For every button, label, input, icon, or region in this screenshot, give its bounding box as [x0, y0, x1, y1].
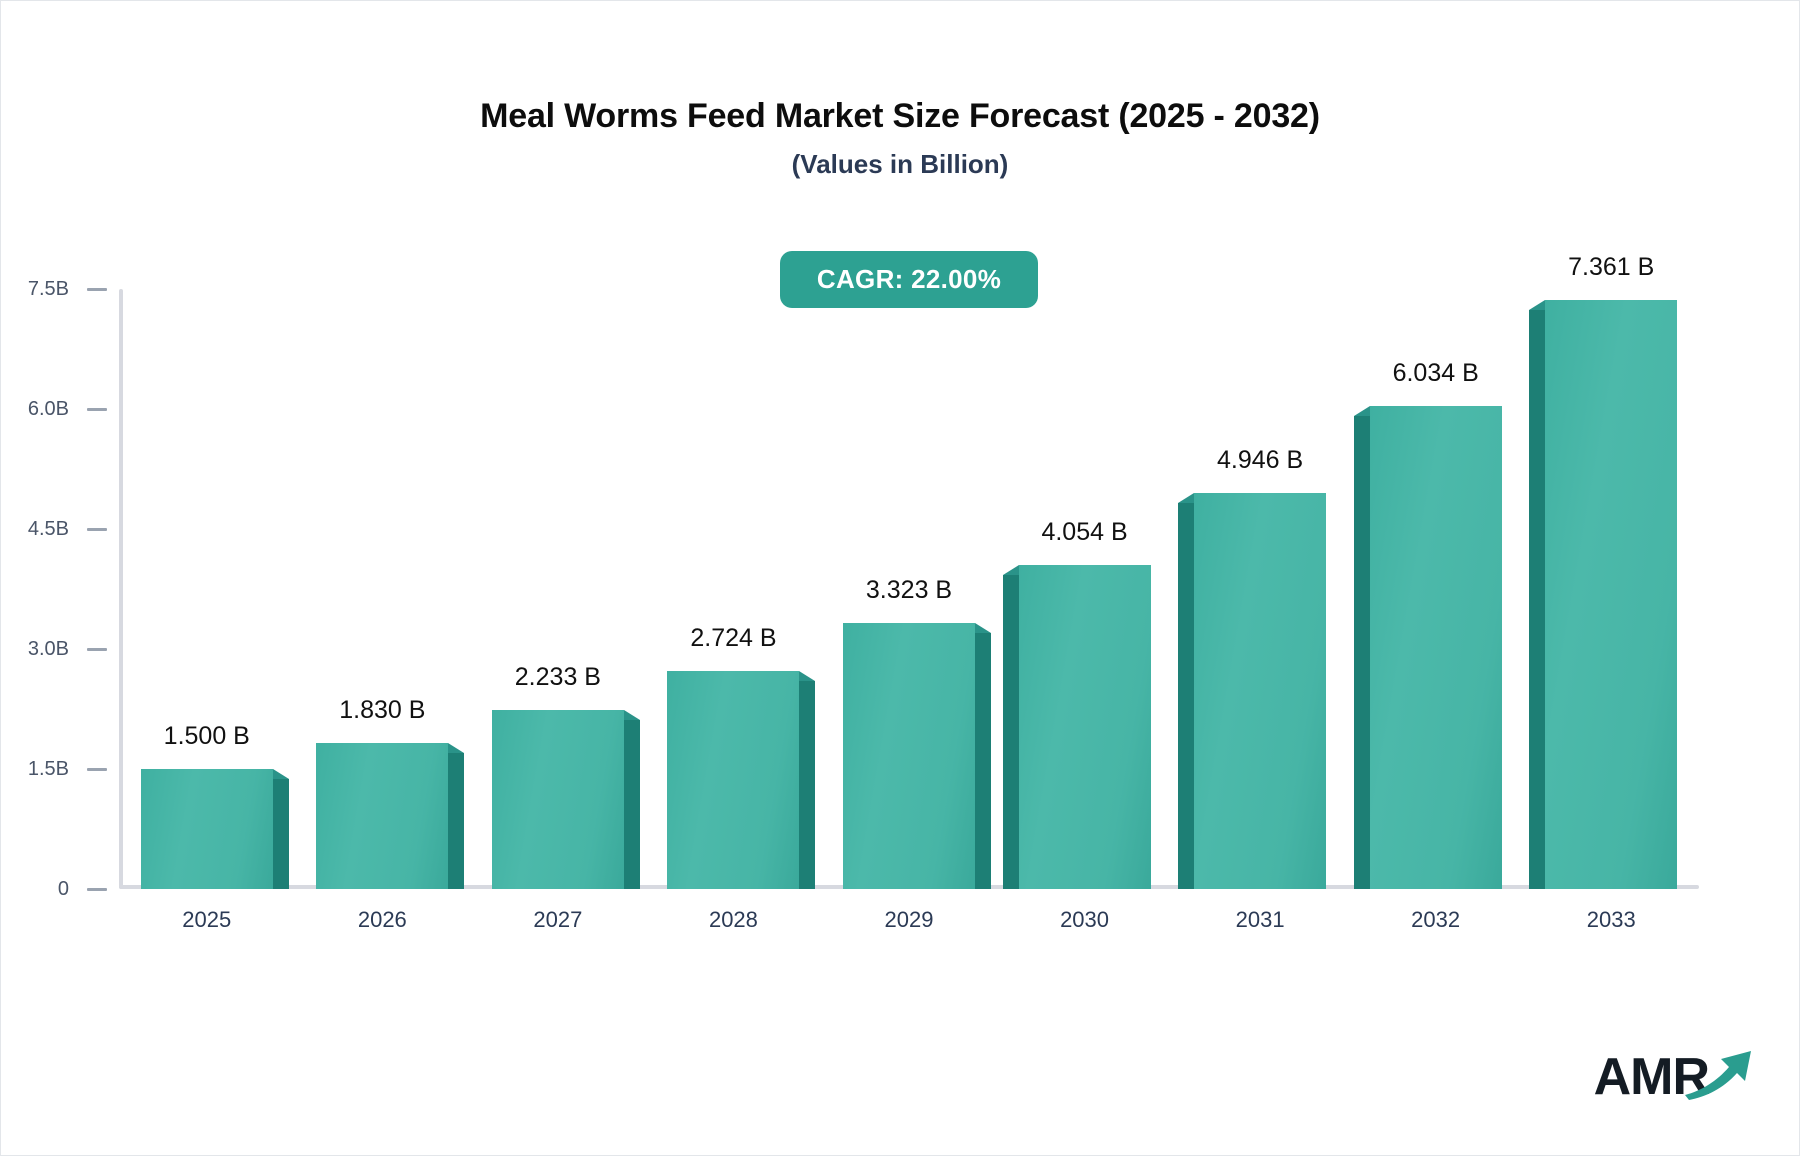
bar-series: 1.500 B1.830 B2.233 B2.724 B3.323 B4.054… — [119, 289, 1699, 889]
bar-slot: 6.034 B — [1370, 289, 1502, 889]
chart-canvas: Meal Worms Feed Market Size Forecast (20… — [0, 0, 1800, 1156]
bar-face — [1545, 300, 1677, 889]
bar-side-face — [624, 720, 640, 889]
bar-face — [843, 623, 975, 889]
bar-face — [141, 769, 273, 889]
bar[interactable] — [1194, 493, 1326, 889]
bar-value-label: 6.034 B — [1393, 359, 1479, 388]
y-axis-tick-mark — [87, 408, 107, 411]
bar-top-face — [624, 710, 640, 720]
x-axis-tick-label: 2031 — [1172, 907, 1348, 933]
bar-top-face — [273, 769, 289, 779]
bar[interactable] — [843, 623, 975, 889]
bar[interactable] — [1019, 565, 1151, 889]
bar-top-face — [1354, 406, 1370, 416]
bar-side-face — [799, 681, 815, 889]
plot-area: 01.5B3.0B4.5B6.0B7.5B 1.500 B1.830 B2.23… — [1, 1, 1800, 1157]
bar[interactable] — [492, 710, 624, 889]
bar-slot: 3.323 B — [843, 289, 975, 889]
y-axis-tick-label: 4.5B — [28, 518, 69, 541]
bar-face — [1370, 406, 1502, 889]
y-axis-tick-mark — [87, 888, 107, 891]
bar-top-face — [1178, 493, 1194, 503]
amr-logo: AMR — [1594, 1045, 1755, 1103]
bar-slot: 7.361 B — [1545, 289, 1677, 889]
bar-value-label: 7.361 B — [1568, 253, 1654, 282]
bar-slot: 1.500 B — [141, 289, 273, 889]
x-axis-tick-label: 2027 — [470, 907, 646, 933]
bar-value-label: 2.724 B — [690, 624, 776, 653]
bar-top-face — [1529, 300, 1545, 310]
bar-value-label: 3.323 B — [866, 576, 952, 605]
y-axis-tick: 1.5B — [1, 758, 119, 780]
y-axis-tick-label: 6.0B — [28, 398, 69, 421]
y-axis-tick: 0 — [1, 878, 119, 900]
bar-slot: 4.054 B — [1019, 289, 1151, 889]
y-axis-tick-label: 3.0B — [28, 638, 69, 661]
bar[interactable] — [1370, 406, 1502, 889]
bar-value-label: 4.946 B — [1217, 446, 1303, 475]
y-axis-tick-mark — [87, 288, 107, 291]
bar-side-face — [1529, 310, 1545, 889]
y-axis-tick: 3.0B — [1, 638, 119, 660]
bar[interactable] — [316, 743, 448, 889]
y-axis-tick: 6.0B — [1, 398, 119, 420]
bar-top-face — [1003, 565, 1019, 575]
bar-face — [667, 671, 799, 889]
growth-arrow-icon — [1683, 1045, 1755, 1101]
bar-value-label: 1.830 B — [339, 696, 425, 725]
bar-top-face — [975, 623, 991, 633]
y-axis-tick: 4.5B — [1, 518, 119, 540]
y-axis-tick-mark — [87, 648, 107, 651]
bar-side-face — [1178, 503, 1194, 889]
bar-side-face — [273, 779, 289, 889]
bar[interactable] — [141, 769, 273, 889]
bar-slot: 4.946 B — [1194, 289, 1326, 889]
bar-side-face — [1354, 416, 1370, 889]
bar-top-face — [799, 671, 815, 681]
x-axis-tick-label: 2032 — [1348, 907, 1524, 933]
y-axis-tick-mark — [87, 528, 107, 531]
bar-value-label: 2.233 B — [515, 663, 601, 692]
x-axis-tick-label: 2029 — [821, 907, 997, 933]
bar-value-label: 1.500 B — [164, 722, 250, 751]
x-axis-tick-label: 2033 — [1523, 907, 1699, 933]
bar-side-face — [1003, 575, 1019, 889]
bar-face — [492, 710, 624, 889]
x-axis-tick-label: 2030 — [997, 907, 1173, 933]
bar-side-face — [975, 633, 991, 889]
x-axis-tick-label: 2026 — [295, 907, 471, 933]
bar-face — [316, 743, 448, 889]
bar-side-face — [448, 753, 464, 889]
y-axis-tick: 7.5B — [1, 278, 119, 300]
bar-top-face — [448, 743, 464, 753]
bar-slot: 1.830 B — [316, 289, 448, 889]
y-axis-tick-label: 0 — [58, 878, 69, 901]
bar-value-label: 4.054 B — [1041, 518, 1127, 547]
y-axis-tick-label: 7.5B — [28, 278, 69, 301]
bar[interactable] — [667, 671, 799, 889]
x-axis-tick-label: 2025 — [119, 907, 295, 933]
bar-face — [1194, 493, 1326, 889]
y-axis-tick-mark — [87, 768, 107, 771]
x-axis-tick-label: 2028 — [646, 907, 822, 933]
bar[interactable] — [1545, 300, 1677, 889]
bar-slot: 2.233 B — [492, 289, 624, 889]
y-axis-tick-label: 1.5B — [28, 758, 69, 781]
bar-slot: 2.724 B — [667, 289, 799, 889]
bar-face — [1019, 565, 1151, 889]
